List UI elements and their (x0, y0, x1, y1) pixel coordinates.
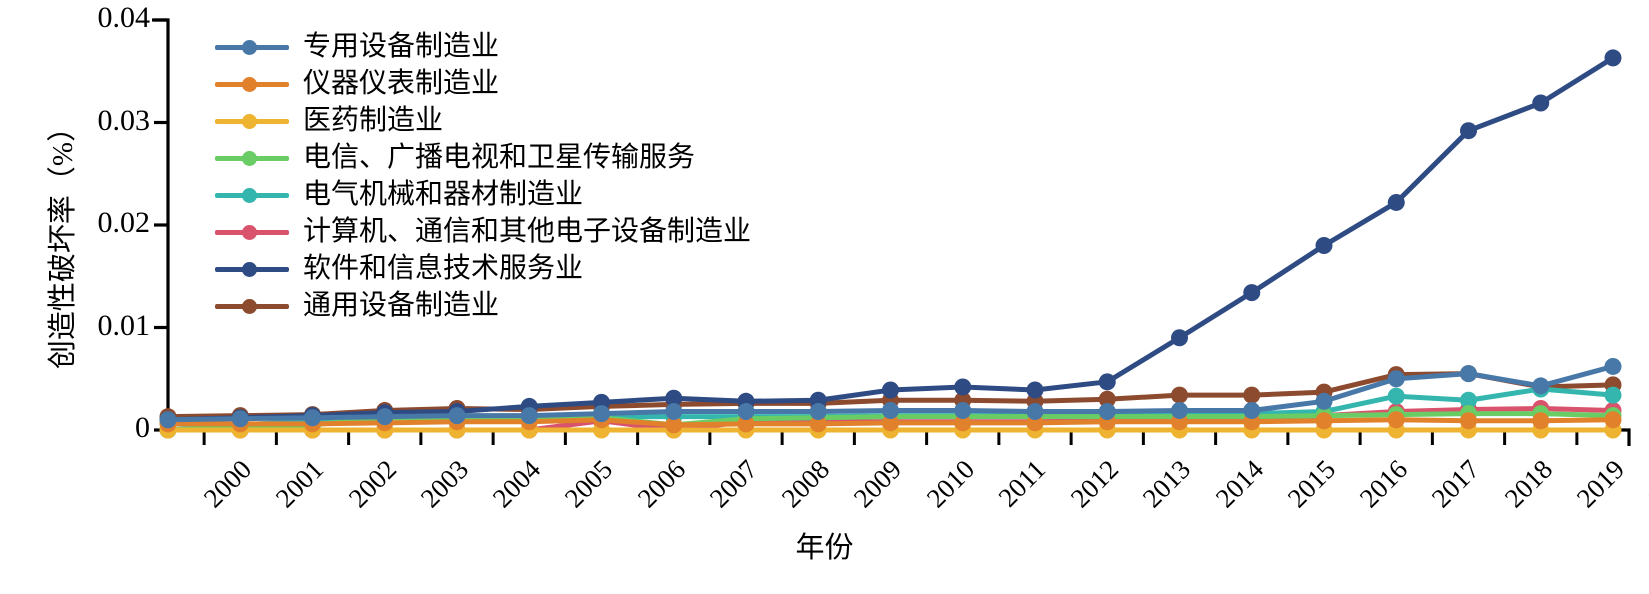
series-marker (810, 403, 827, 420)
series-marker (1171, 387, 1188, 404)
legend-swatch-icon (215, 110, 289, 132)
series-marker (449, 407, 466, 424)
series-marker (1316, 237, 1333, 254)
legend-swatch-icon (215, 295, 289, 317)
series-marker (1532, 95, 1549, 112)
legend-dot-icon (242, 77, 257, 92)
series-marker (1316, 393, 1333, 410)
series-marker (593, 405, 610, 422)
series-marker (1460, 365, 1477, 382)
series-marker (1099, 373, 1116, 390)
legend-swatch-icon (215, 36, 289, 58)
series-marker (1388, 194, 1405, 211)
series-marker (954, 378, 971, 395)
legend-dot-icon (242, 114, 257, 129)
legend-dot-icon (242, 151, 257, 166)
legend-item[interactable]: 计算机、通信和其他电子设备制造业 (215, 213, 751, 250)
legend-label: 医药制造业 (303, 107, 443, 135)
series-marker (665, 403, 682, 420)
series-marker (304, 409, 321, 426)
legend-label: 仪器仪表制造业 (303, 70, 499, 98)
series-marker (1605, 49, 1622, 66)
series-marker (232, 410, 249, 427)
series-marker (1605, 387, 1622, 404)
legend: 专用设备制造业仪器仪表制造业医药制造业电信、广播电视和卫星传输服务电气机械和器材… (215, 28, 751, 324)
series-marker (1605, 411, 1622, 428)
legend-dot-icon (242, 225, 257, 240)
series-marker (1027, 382, 1044, 399)
series-marker (1532, 377, 1549, 394)
series-marker (1388, 411, 1405, 428)
legend-dot-icon (242, 262, 257, 277)
series-marker (1388, 388, 1405, 405)
series-marker (1243, 387, 1260, 404)
series-marker (882, 382, 899, 399)
legend-item[interactable]: 通用设备制造业 (215, 287, 751, 324)
series-marker (1605, 358, 1622, 375)
legend-label: 电气机械和器材制造业 (303, 181, 583, 209)
legend-swatch-icon (215, 184, 289, 206)
legend-swatch-icon (215, 221, 289, 243)
series-marker (954, 402, 971, 419)
series-marker (1243, 284, 1260, 301)
series-marker (160, 411, 177, 428)
series-marker (521, 407, 538, 424)
legend-label: 专用设备制造业 (303, 33, 499, 61)
series-marker (738, 403, 755, 420)
legend-item[interactable]: 仪器仪表制造业 (215, 65, 751, 102)
chart-root: 创造性破坏率（%） 年份 00.010.020.030.04 200020012… (0, 0, 1649, 594)
legend-dot-icon (242, 299, 257, 314)
legend-swatch-icon (215, 258, 289, 280)
legend-label: 电信、广播电视和卫星传输服务 (303, 144, 695, 172)
legend-swatch-icon (215, 147, 289, 169)
legend-item[interactable]: 医药制造业 (215, 102, 751, 139)
legend-dot-icon (242, 188, 257, 203)
legend-label: 通用设备制造业 (303, 292, 499, 320)
series-marker (1460, 412, 1477, 429)
series-marker (1388, 370, 1405, 387)
legend-item[interactable]: 软件和信息技术服务业 (215, 250, 751, 287)
series-marker (1460, 122, 1477, 139)
legend-item[interactable]: 专用设备制造业 (215, 28, 751, 65)
legend-label: 软件和信息技术服务业 (303, 255, 583, 283)
legend-swatch-icon (215, 73, 289, 95)
series-marker (1532, 412, 1549, 429)
series-marker (376, 408, 393, 425)
legend-dot-icon (242, 40, 257, 55)
series-marker (1171, 329, 1188, 346)
series-marker (1027, 403, 1044, 420)
series-marker (1316, 412, 1333, 429)
legend-item[interactable]: 电信、广播电视和卫星传输服务 (215, 139, 751, 176)
series-marker (1243, 402, 1260, 419)
series-marker (1099, 403, 1116, 420)
legend-label: 计算机、通信和其他电子设备制造业 (303, 218, 751, 246)
series-marker (882, 402, 899, 419)
legend-item[interactable]: 电气机械和器材制造业 (215, 176, 751, 213)
series-marker (1171, 402, 1188, 419)
